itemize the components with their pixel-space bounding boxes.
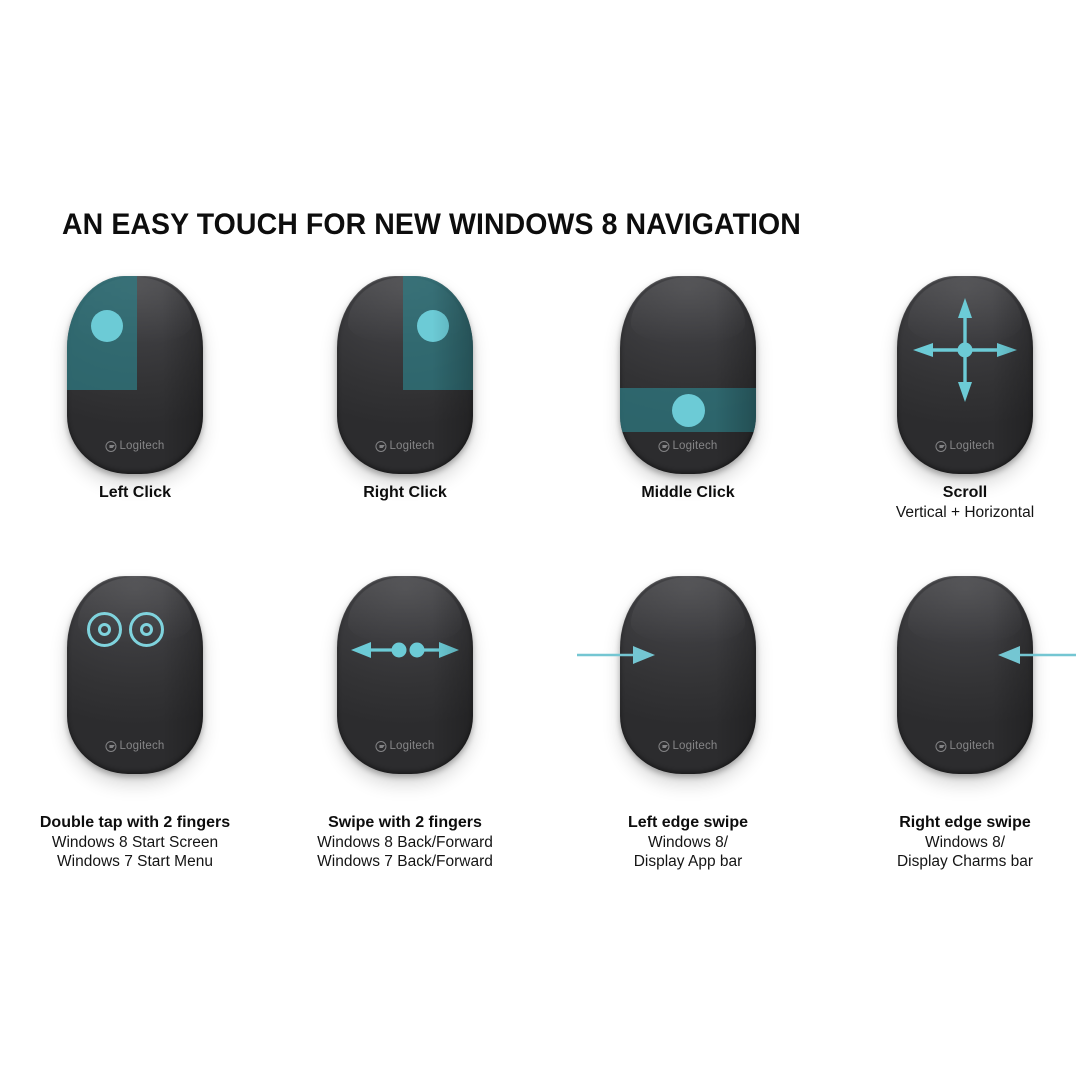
gesture-subtitle-2: Windows 7 Back/Forward (270, 852, 540, 872)
logitech-mark-icon (105, 741, 116, 752)
logitech-mark-icon (658, 441, 669, 452)
gesture-caption: Right Click (270, 483, 540, 503)
horizontal-double-arrow-two-dots-icon (337, 576, 473, 774)
logitech-mark-icon (935, 741, 946, 752)
gesture-subtitle-2: Windows 7 Start Menu (0, 852, 270, 872)
touch-point-dot (672, 394, 705, 427)
mouse-device: Logitech (337, 276, 473, 474)
gesture-caption: Left Click (0, 483, 270, 503)
logitech-wordmark: Logitech (389, 440, 434, 452)
arrow-left-edge-icon (988, 640, 1078, 670)
logitech-logo: Logitech (935, 740, 994, 752)
logitech-logo: Logitech (105, 440, 164, 452)
gesture-cell-swipe-2-fingers[interactable]: Logitech Swipe with 2 fingers Windows 8 … (270, 568, 540, 868)
gesture-caption: Middle Click (553, 483, 823, 503)
gesture-title: Right Click (270, 483, 540, 503)
gesture-row-top: Logitech Left Click Logitech (0, 268, 1080, 568)
gesture-cell-left-click[interactable]: Logitech Left Click (0, 268, 270, 568)
gesture-title: Left Click (0, 483, 270, 503)
gesture-subtitle-1: Windows 8 Start Screen (0, 833, 270, 853)
gesture-grid: Logitech Left Click Logitech (0, 268, 1080, 868)
mouse-stage: Logitech (290, 268, 520, 483)
logitech-wordmark: Logitech (119, 440, 164, 452)
mouse-device: Logitech (620, 576, 756, 774)
arrow-right-edge-icon (575, 640, 665, 670)
gesture-subtitle-2: Display App bar (553, 852, 823, 872)
gesture-title: Middle Click (553, 483, 823, 503)
gesture-cell-left-edge-swipe[interactable]: Logitech Left edge swipe Windows 8/ Disp… (553, 568, 823, 868)
gesture-subtitle-2: Display Charms bar (830, 852, 1080, 872)
mouse-stage: Logitech (850, 268, 1080, 483)
mouse-stage: Logitech (573, 568, 803, 783)
mouse-device: Logitech (897, 576, 1033, 774)
touch-point-dot (91, 310, 123, 342)
gesture-caption: Scroll Vertical + Horizontal (830, 483, 1080, 522)
logitech-mark-icon (658, 741, 669, 752)
mouse-stage: Logitech (850, 568, 1080, 783)
mouse-device: Logitech (897, 276, 1033, 474)
logitech-wordmark: Logitech (949, 740, 994, 752)
logitech-logo: Logitech (105, 740, 164, 752)
touch-point-dot (417, 310, 449, 342)
gesture-subtitle: Vertical + Horizontal (830, 503, 1080, 523)
logitech-logo: Logitech (658, 740, 717, 752)
mouse-stage: Logitech (290, 568, 520, 783)
gesture-subtitle-1: Windows 8/ (553, 833, 823, 853)
logitech-logo: Logitech (658, 440, 717, 452)
gesture-row-bottom: Logitech Double tap with 2 fingers Windo… (0, 568, 1080, 868)
gesture-caption: Swipe with 2 fingers Windows 8 Back/Forw… (270, 813, 540, 872)
gesture-caption: Left edge swipe Windows 8/ Display App b… (553, 813, 823, 872)
logitech-wordmark: Logitech (119, 740, 164, 752)
gesture-subtitle-1: Windows 8/ (830, 833, 1080, 853)
page-title: AN EASY TOUCH FOR NEW WINDOWS 8 NAVIGATI… (62, 208, 801, 242)
tap-ring-icon (87, 612, 122, 647)
mouse-device: Logitech (620, 276, 756, 474)
four-way-arrow-cross-icon (897, 276, 1033, 474)
gesture-title: Left edge swipe (553, 813, 823, 833)
logitech-wordmark: Logitech (672, 440, 717, 452)
logitech-mark-icon (375, 441, 386, 452)
gesture-cell-right-edge-swipe[interactable]: Logitech Right edge swipe Windows 8/ Dis… (830, 568, 1080, 868)
mouse-device: Logitech (67, 576, 203, 774)
mouse-stage: Logitech (20, 268, 250, 483)
gesture-title: Scroll (830, 483, 1080, 503)
mouse-device: Logitech (337, 576, 473, 774)
gesture-caption: Right edge swipe Windows 8/ Display Char… (830, 813, 1080, 872)
logitech-wordmark: Logitech (672, 740, 717, 752)
infographic-page: AN EASY TOUCH FOR NEW WINDOWS 8 NAVIGATI… (0, 0, 1080, 1080)
gesture-subtitle-1: Windows 8 Back/Forward (270, 833, 540, 853)
logitech-logo: Logitech (375, 440, 434, 452)
gesture-cell-scroll[interactable]: Logitech Scroll Vertical + Horizontal (830, 268, 1080, 568)
tap-ring-icon (129, 612, 164, 647)
gesture-cell-double-tap[interactable]: Logitech Double tap with 2 fingers Windo… (0, 568, 270, 868)
mouse-stage: Logitech (20, 568, 250, 783)
logitech-mark-icon (105, 441, 116, 452)
two-tap-rings-icon (87, 612, 164, 647)
gesture-cell-middle-click[interactable]: Logitech Middle Click (553, 268, 823, 568)
gesture-cell-right-click[interactable]: Logitech Right Click (270, 268, 540, 568)
gesture-title: Double tap with 2 fingers (0, 813, 270, 833)
gesture-title: Right edge swipe (830, 813, 1080, 833)
gesture-title: Swipe with 2 fingers (270, 813, 540, 833)
gesture-caption: Double tap with 2 fingers Windows 8 Star… (0, 813, 270, 872)
mouse-stage: Logitech (573, 268, 803, 483)
mouse-device: Logitech (67, 276, 203, 474)
